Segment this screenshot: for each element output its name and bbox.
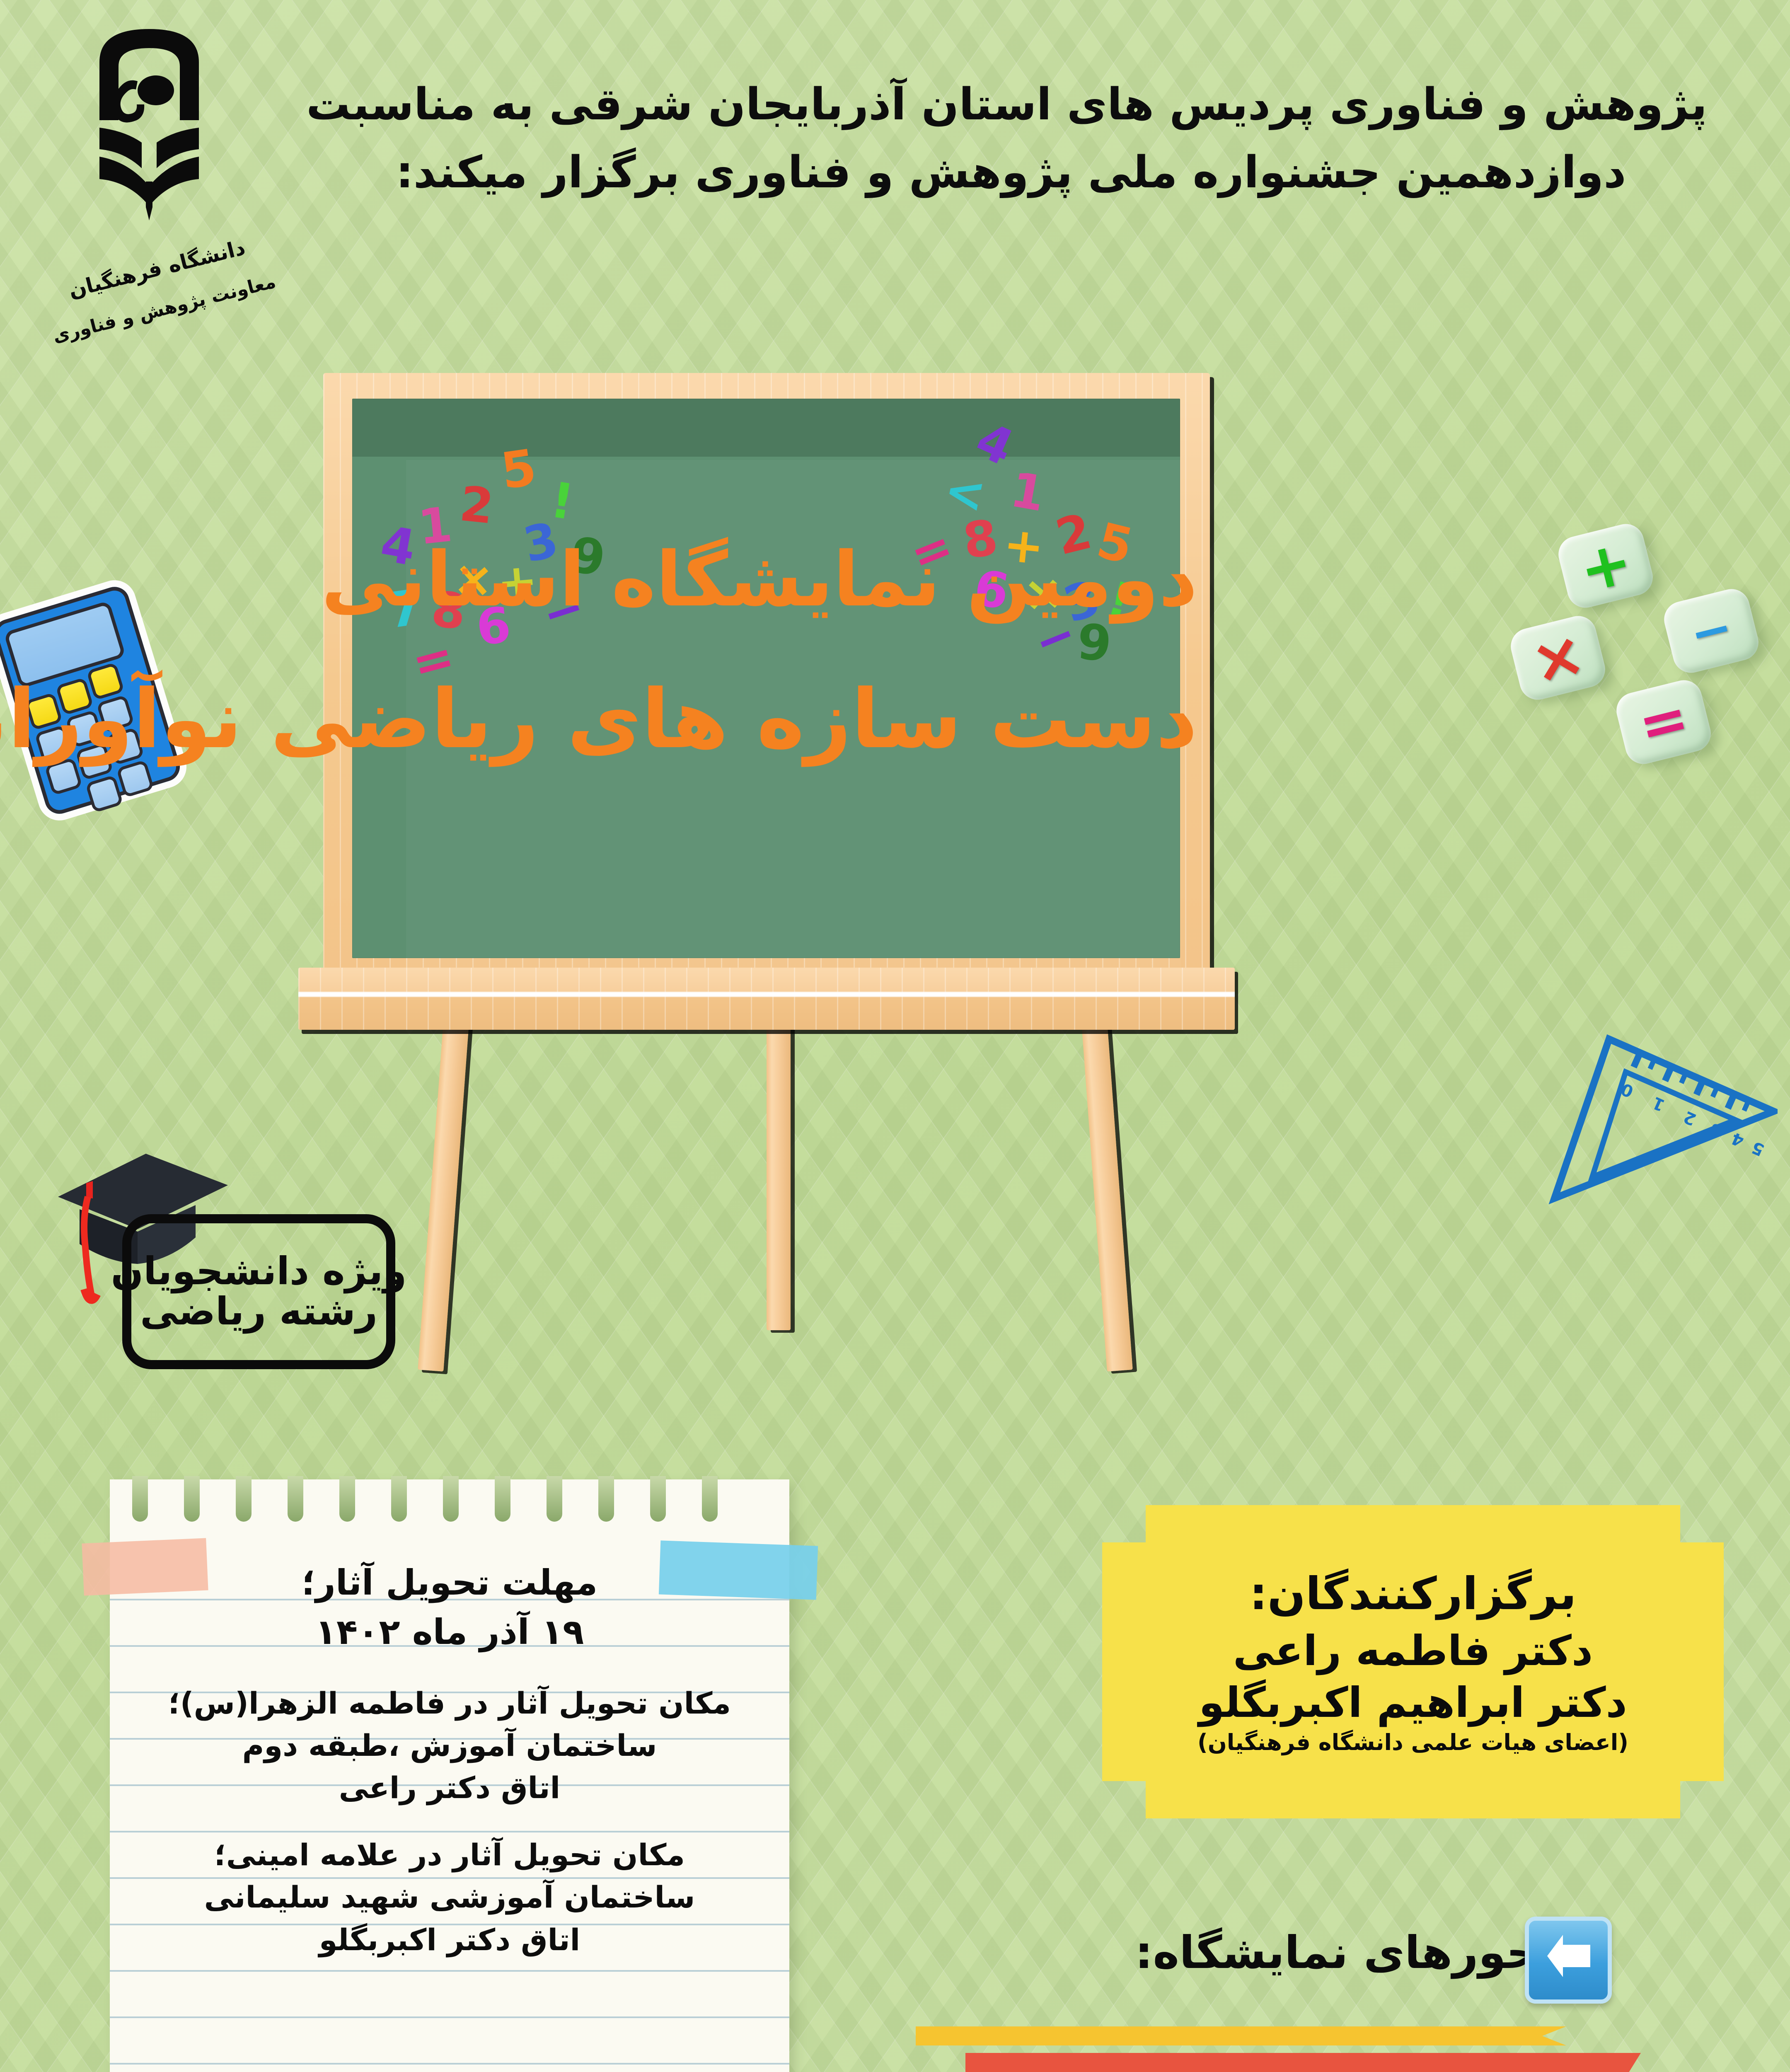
times-block-glyph: × — [1525, 622, 1591, 695]
arrow-left-icon — [1525, 1917, 1612, 2004]
spiral-ring — [391, 1476, 407, 1522]
chalk-doodle: 2 — [457, 480, 496, 531]
blackboard-title-line1: دومین نمایشگاه استانی — [394, 535, 1197, 623]
blackboard-frame: 52!1439×+786−= 4>18+25=6×3!−9 دومین نمای… — [323, 373, 1210, 986]
cap-badge-line1: ویژه دانشجویان — [111, 1251, 407, 1292]
location-allameh-amini-block: مکان تحویل آثار در علامه امینی؛ساختمان آ… — [126, 1834, 773, 1961]
spiral-ring — [236, 1476, 252, 1522]
spiral-ring — [184, 1476, 200, 1522]
notepad-line: ساختمان آموزش ،طبقه دوم — [126, 1724, 773, 1767]
university-logo: دانشگاه فرهنگیان معاونت پژوهش و فناوری — [75, 12, 249, 377]
axis-ribbon: دست سازه های آموزش ریاضیدوره اول متوسطه — [965, 2026, 1641, 2072]
notepad-line: مکان تحویل آثار در علامه امینی؛ — [126, 1834, 773, 1876]
organizers-affiliation: (اعضای هیات علمی دانشگاه فرهنگیان) — [1197, 1729, 1628, 1755]
tape-top-left — [82, 1538, 208, 1596]
ribbon-body: دست سازه های آموزش ریاضیدوره اول متوسطه — [965, 2053, 1641, 2072]
header-announcement: پژوهش و فناوری پردیس های استان آذربایجان… — [315, 70, 1707, 207]
spiral-ring — [650, 1476, 666, 1522]
poster-canvas: دانشگاه فرهنگیان معاونت پژوهش و فناوری پ… — [0, 0, 1790, 2072]
math-students-badge-box: ویژه دانشجویان رشته ریاضی — [122, 1214, 395, 1369]
blackboard-chalk-tray — [298, 968, 1235, 1030]
ribbon-strip-top — [916, 2026, 1566, 2045]
chalk-doodle: 5 — [498, 443, 539, 497]
notepad-line: ۱۹ آذر ماه ۱۴۰۲ — [126, 1607, 773, 1657]
minus-block-glyph: − — [1685, 602, 1738, 660]
blackboard-title-line2: دست سازه های ریاضی نوآورانه — [394, 672, 1197, 767]
spiral-ring — [132, 1476, 148, 1522]
plus-block: + — [1555, 520, 1657, 612]
chalk-doodle: 9 — [1075, 617, 1113, 669]
svg-text:5: 5 — [1749, 1138, 1767, 1159]
header-line-1: پژوهش و فناوری پردیس های استان آذربایجان… — [315, 70, 1707, 138]
header-line-2: دوازدهمین جشنواره ملی پژوهش و فناوری برگ… — [315, 138, 1707, 206]
chalk-doodle: 4 — [970, 414, 1021, 473]
spiral-ring — [339, 1476, 355, 1522]
equals-block-glyph: = — [1633, 688, 1694, 756]
set-square-ruler-icon: 0 1 2 3 4 5 — [1546, 1032, 1778, 1231]
plus-block-glyph: + — [1573, 530, 1638, 602]
times-block: × — [1507, 612, 1609, 704]
tape-top-right — [659, 1540, 818, 1600]
organizers-plaque: برگزارکنندگان: دکتر فاطمه راعی دکتر ابرا… — [1102, 1475, 1724, 1848]
organizer-person-1: دکتر فاطمه راعی — [1233, 1627, 1593, 1675]
spiral-ring — [547, 1476, 562, 1522]
location-fatemeh-zahra-block: مکان تحویل آثار در فاطمه الزهرا(س)؛ساختم… — [126, 1682, 773, 1809]
spiral-ring — [495, 1476, 510, 1522]
svg-text:1: 1 — [1650, 1093, 1668, 1115]
svg-text:2: 2 — [1681, 1107, 1699, 1129]
blackboard-surface: 52!1439×+786−= 4>18+25=6×3!−9 دومین نمای… — [352, 399, 1180, 958]
spiral-ring — [598, 1476, 614, 1522]
notepad-line: مکان تحویل آثار در فاطمه الزهرا(س)؛ — [126, 1682, 773, 1724]
cap-badge-line2: رشته ریاضی — [140, 1292, 377, 1332]
axes-heading: محورهای نمایشگاه: — [1135, 1927, 1566, 1979]
notepad-line: اتاق دکتر راعی — [126, 1767, 773, 1809]
math-students-badge: ویژه دانشجویان رشته ریاضی — [50, 1140, 464, 1372]
spiral-ring — [288, 1476, 303, 1522]
spiral-ring — [443, 1476, 459, 1522]
chalk-doodle: 1 — [1007, 466, 1049, 519]
notepad-line: اتاق دکتر اکبربگلو — [126, 1919, 773, 1961]
notepad-line: ساختمان آموزشی شهید سلیمانی — [126, 1876, 773, 1918]
farhangian-university-book-emblem — [87, 17, 211, 249]
organizers-heading: برگزارکنندگان: — [1250, 1568, 1577, 1620]
spiral-ring — [702, 1476, 718, 1522]
equals-block: = — [1613, 676, 1715, 768]
minus-block: − — [1660, 585, 1762, 677]
notepad-content: مهلت تحویل آثار؛۱۹ آذر ماه ۱۴۰۲مکان تحوی… — [126, 1558, 773, 1986]
organizer-person-2: دکتر ابراهیم اکبربگلو — [1199, 1678, 1627, 1727]
